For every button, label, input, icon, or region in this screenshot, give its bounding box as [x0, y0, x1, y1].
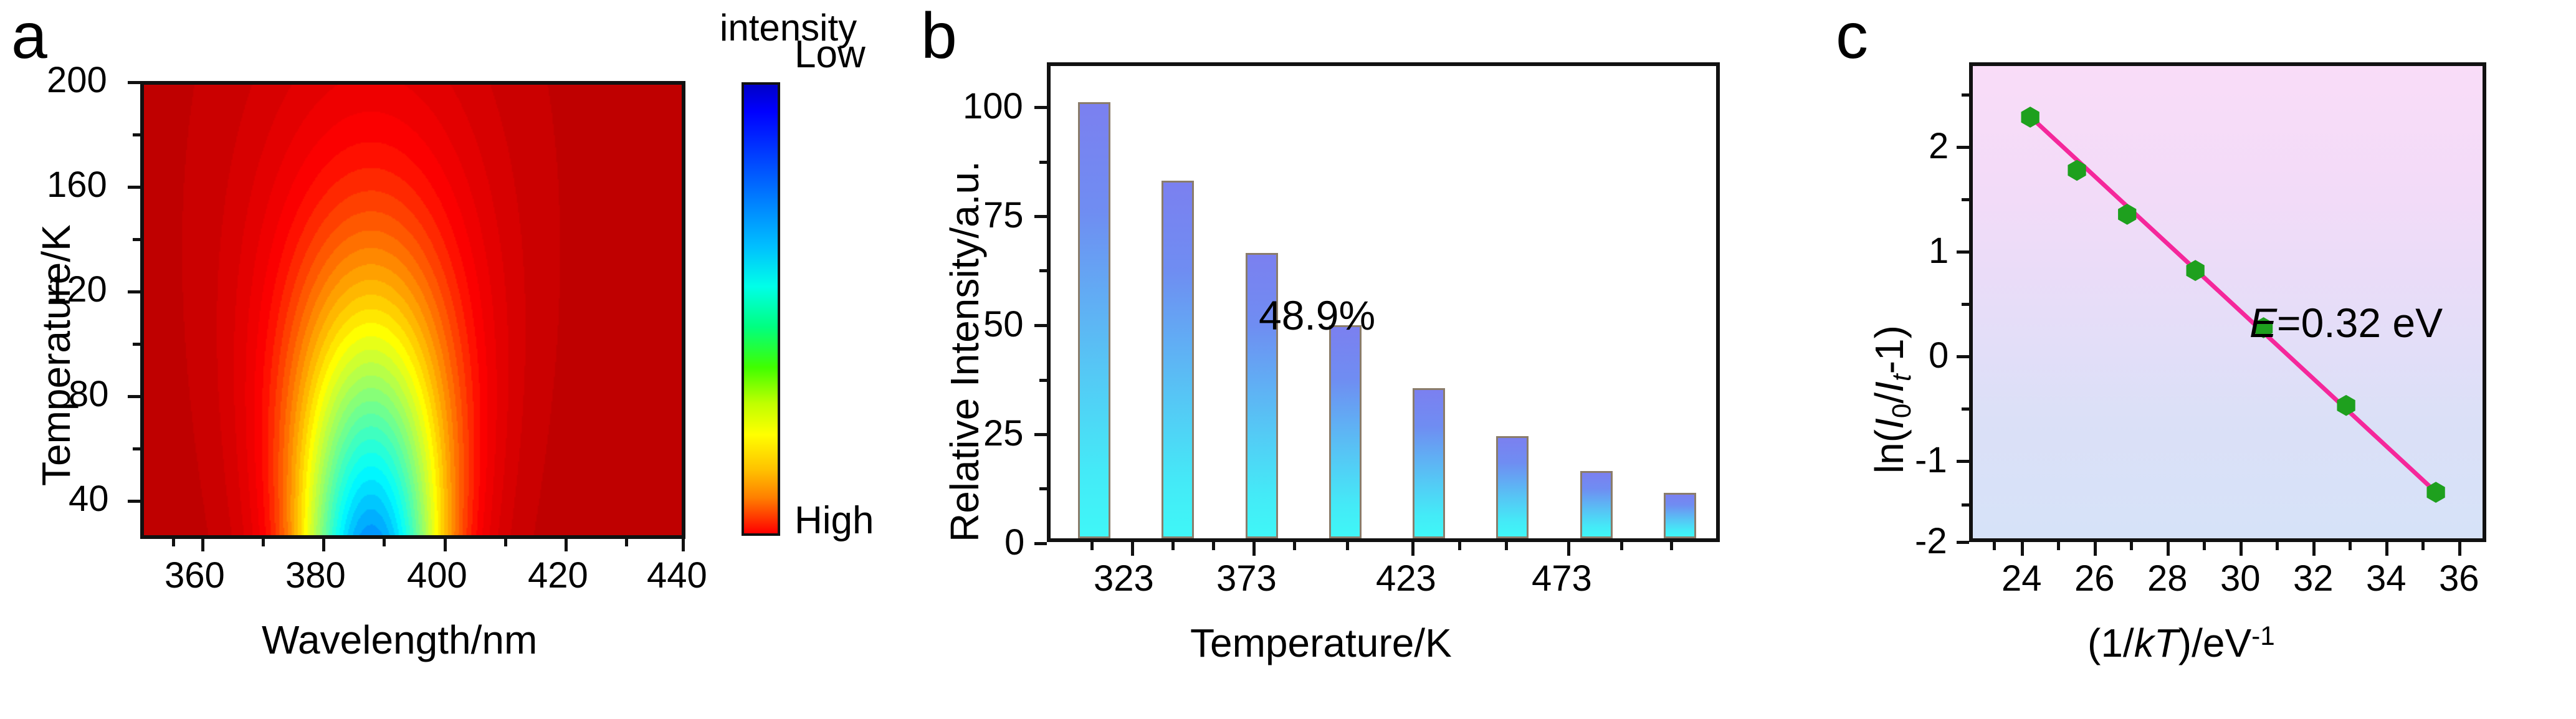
b-xtick-minor-2: [1171, 542, 1175, 550]
a-ytick-minor-180: [133, 133, 140, 136]
c-xaxis-label: (1/kT)/eV-1: [2087, 623, 2275, 663]
c-ytick-label-m2: -2: [1915, 523, 1947, 559]
panel-a: a 200 160 120 80 40 360 380 400 420: [0, 0, 910, 719]
c-xlabel-T: T: [2154, 621, 2178, 665]
a-ytick-label-160: 160: [47, 167, 107, 203]
a-xtick-label-400: 400: [407, 558, 467, 594]
b-ytick-minor-62: [1039, 269, 1047, 272]
b-ytick-100: [1034, 106, 1047, 109]
a-xtick-label-360: 360: [165, 558, 225, 594]
c-yaxis-label: ln(I0/It-1): [1869, 325, 1915, 474]
a-xtick-minor-355: [172, 539, 175, 546]
c-ytick-minor-1p5: [1962, 198, 1969, 201]
b-xtick-minor-7: [1505, 542, 1508, 550]
c-xtick-label-26: 26: [2074, 561, 2115, 597]
a-ytick-label-200: 200: [47, 62, 107, 98]
a-xtick-label-380: 380: [285, 558, 346, 594]
a-xtick-440: [682, 539, 685, 551]
b-ytick-label-100: 100: [963, 88, 1023, 125]
panel-b-letter: b: [921, 4, 957, 69]
a-xtick-minor-410: [504, 539, 507, 546]
colorbar-low-label: Low: [794, 32, 866, 77]
data-point-0: [2022, 107, 2039, 127]
b-percentage-annotation: 48.9%: [1259, 292, 1375, 339]
data-point-2: [2119, 204, 2135, 224]
b-xtick-minor-6: [1458, 542, 1461, 550]
c-xtick-minor-31: [2276, 542, 2279, 550]
c-xtick-32: [2312, 542, 2316, 556]
c-ytick-minor-m0p5: [1962, 407, 1969, 411]
a-xaxis-label: Wavelength/nm: [262, 620, 537, 660]
contour-heatmap: [144, 85, 682, 535]
figure-root: a 200 160 120 80 40 360 380 400 420: [0, 0, 2576, 719]
c-ytick-2: [1957, 146, 1969, 149]
c-ylabel-It: I: [1867, 381, 1912, 393]
c-ytick-1: [1957, 250, 1969, 254]
a-ytick-minor-60: [133, 447, 140, 450]
c-xtick-36: [2458, 542, 2461, 556]
c-ylabel-pre: ln(: [1867, 429, 1912, 474]
c-ytick-0: [1957, 355, 1969, 358]
c-xtick-label-30: 30: [2220, 561, 2261, 597]
panel-c-letter: c: [1836, 4, 1868, 69]
c-xtick-26: [2094, 542, 2097, 556]
a-ytick-80: [128, 395, 140, 398]
c-annot-symbol: E: [2249, 300, 2277, 346]
c-xtick-label-24: 24: [2001, 561, 2042, 597]
a-xtick-360: [201, 539, 204, 551]
c-ytick-label-0: 0: [1929, 338, 1949, 374]
b-ytick-0: [1034, 542, 1047, 545]
c-xlabel-post: )/eV: [2178, 621, 2251, 665]
bar-series: [1051, 66, 1716, 538]
bar-323: [1162, 181, 1194, 538]
b-xtick-label-323: 323: [1094, 561, 1154, 597]
b-xtick-label-473: 473: [1532, 561, 1592, 597]
c-ytick-m1: [1957, 460, 1969, 463]
data-point-5: [2337, 396, 2354, 416]
a-xtick-label-420: 420: [528, 558, 588, 594]
a-xtick-label-440: 440: [647, 558, 707, 594]
a-xtick-400: [444, 539, 447, 551]
data-point-1: [2068, 161, 2085, 181]
c-xlabel-k: k: [2134, 621, 2154, 665]
panel-b: b 0 25 50 75 100 323 373 4: [910, 0, 1826, 719]
a-ytick-160: [128, 186, 140, 189]
bar-373: [1329, 325, 1362, 538]
panel-c: c 2 1 0 -1 -2 24 26: [1826, 0, 2576, 719]
b-ytick-label-50: 50: [983, 307, 1024, 343]
b-xtick-minor-9: [1670, 542, 1673, 550]
c-xtick-minor-25: [2057, 542, 2060, 550]
a-ytick-200: [128, 81, 140, 84]
c-xlabel-pre: (1/: [2087, 621, 2134, 665]
c-xtick-label-28: 28: [2147, 561, 2188, 597]
c-ytick-label-2: 2: [1929, 128, 1949, 164]
b-ytick-minor-87: [1039, 161, 1047, 164]
bar-398: [1413, 388, 1445, 539]
c-xlabel-exp: -1: [2251, 621, 2275, 650]
b-ytick-50: [1034, 324, 1047, 327]
a-ytick-minor-100: [133, 343, 140, 346]
a-ytick-minor-140: [133, 238, 140, 241]
c-xtick-34: [2385, 542, 2388, 556]
c-annot-text: =0.32 eV: [2277, 300, 2443, 346]
c-ytick-label-m1: -1: [1915, 442, 1947, 479]
a-ytick-120: [128, 290, 140, 293]
b-xtick-label-373: 373: [1216, 561, 1277, 597]
c-ytick-m2: [1957, 541, 1969, 544]
b-xtick-473: [1567, 542, 1570, 556]
b-xtick-373: [1252, 542, 1256, 556]
b-xtick-minor-3: [1212, 542, 1215, 550]
bar-473: [1664, 493, 1696, 539]
bar-448: [1580, 471, 1613, 539]
b-xaxis-label: Temperature/K: [1190, 623, 1452, 663]
c-xtick-minor-27: [2130, 542, 2133, 550]
c-ytick-label-1: 1: [1929, 233, 1949, 269]
c-ytick-minor-m1p5: [1962, 503, 1969, 507]
c-ylabel-post: -1): [1867, 325, 1912, 374]
c-activation-energy-annotation: E=0.32 eV: [2249, 299, 2443, 346]
colorbar: [742, 82, 780, 536]
c-xtick-label-32: 32: [2293, 561, 2334, 597]
a-xtick-380: [322, 539, 325, 551]
b-xtick-minor-8: [1620, 542, 1623, 550]
a-ytick-40: [128, 500, 140, 503]
b-xtick-minor-4: [1293, 542, 1296, 550]
colorbar-high-label: High: [794, 498, 874, 543]
b-ytick-label-0: 0: [1004, 525, 1024, 561]
panel-a-plot-area: [140, 81, 685, 539]
data-point-6: [2427, 482, 2444, 502]
c-xtick-28: [2167, 542, 2170, 556]
bar-298: [1078, 102, 1110, 538]
panel-b-plot-area: [1047, 62, 1720, 542]
a-ytick-label-40: 40: [69, 481, 109, 517]
a-yaxis-label: Temperature/K: [36, 224, 76, 486]
data-point-3: [2187, 260, 2204, 280]
c-ylabel-subt: t: [1887, 374, 1916, 381]
c-ytick-minor-0p5: [1962, 303, 1969, 306]
c-xtick-minor-33: [2349, 542, 2352, 550]
panel-a-letter: a: [11, 4, 47, 69]
c-xtick-minor-35: [2421, 542, 2425, 550]
b-xtick-423: [1411, 542, 1414, 556]
a-xtick-420: [565, 539, 568, 551]
a-xtick-minor-370: [262, 539, 265, 546]
b-xtick-minor-5: [1346, 542, 1349, 550]
b-ytick-label-25: 25: [983, 416, 1024, 452]
c-ylabel-slash: /: [1867, 393, 1912, 404]
b-ytick-minor-12: [1039, 487, 1047, 490]
a-xtick-minor-430: [625, 539, 628, 546]
b-ytick-label-75: 75: [983, 198, 1024, 234]
c-xtick-label-36: 36: [2439, 561, 2479, 597]
c-xtick-minor-23: [1993, 542, 1996, 550]
b-ytick-25: [1034, 433, 1047, 436]
c-xtick-30: [2240, 542, 2243, 556]
b-xtick-minor-1: [1090, 542, 1094, 550]
b-ytick-75: [1034, 215, 1047, 218]
c-ytick-minor-2p5: [1962, 93, 1969, 97]
c-ylabel-sub0: 0: [1887, 404, 1916, 419]
bar-423: [1496, 436, 1529, 539]
c-xtick-label-34: 34: [2366, 561, 2407, 597]
b-ytick-minor-37: [1039, 379, 1047, 382]
c-ylabel-I0: I: [1867, 418, 1912, 429]
b-xtick-323: [1131, 542, 1134, 556]
b-xtick-label-423: 423: [1376, 561, 1436, 597]
b-yaxis-label: Relative Intensity/a.u.: [945, 161, 985, 542]
c-xtick-24: [2021, 542, 2024, 556]
a-xtick-minor-390: [383, 539, 386, 546]
c-xtick-minor-29: [2203, 542, 2206, 550]
